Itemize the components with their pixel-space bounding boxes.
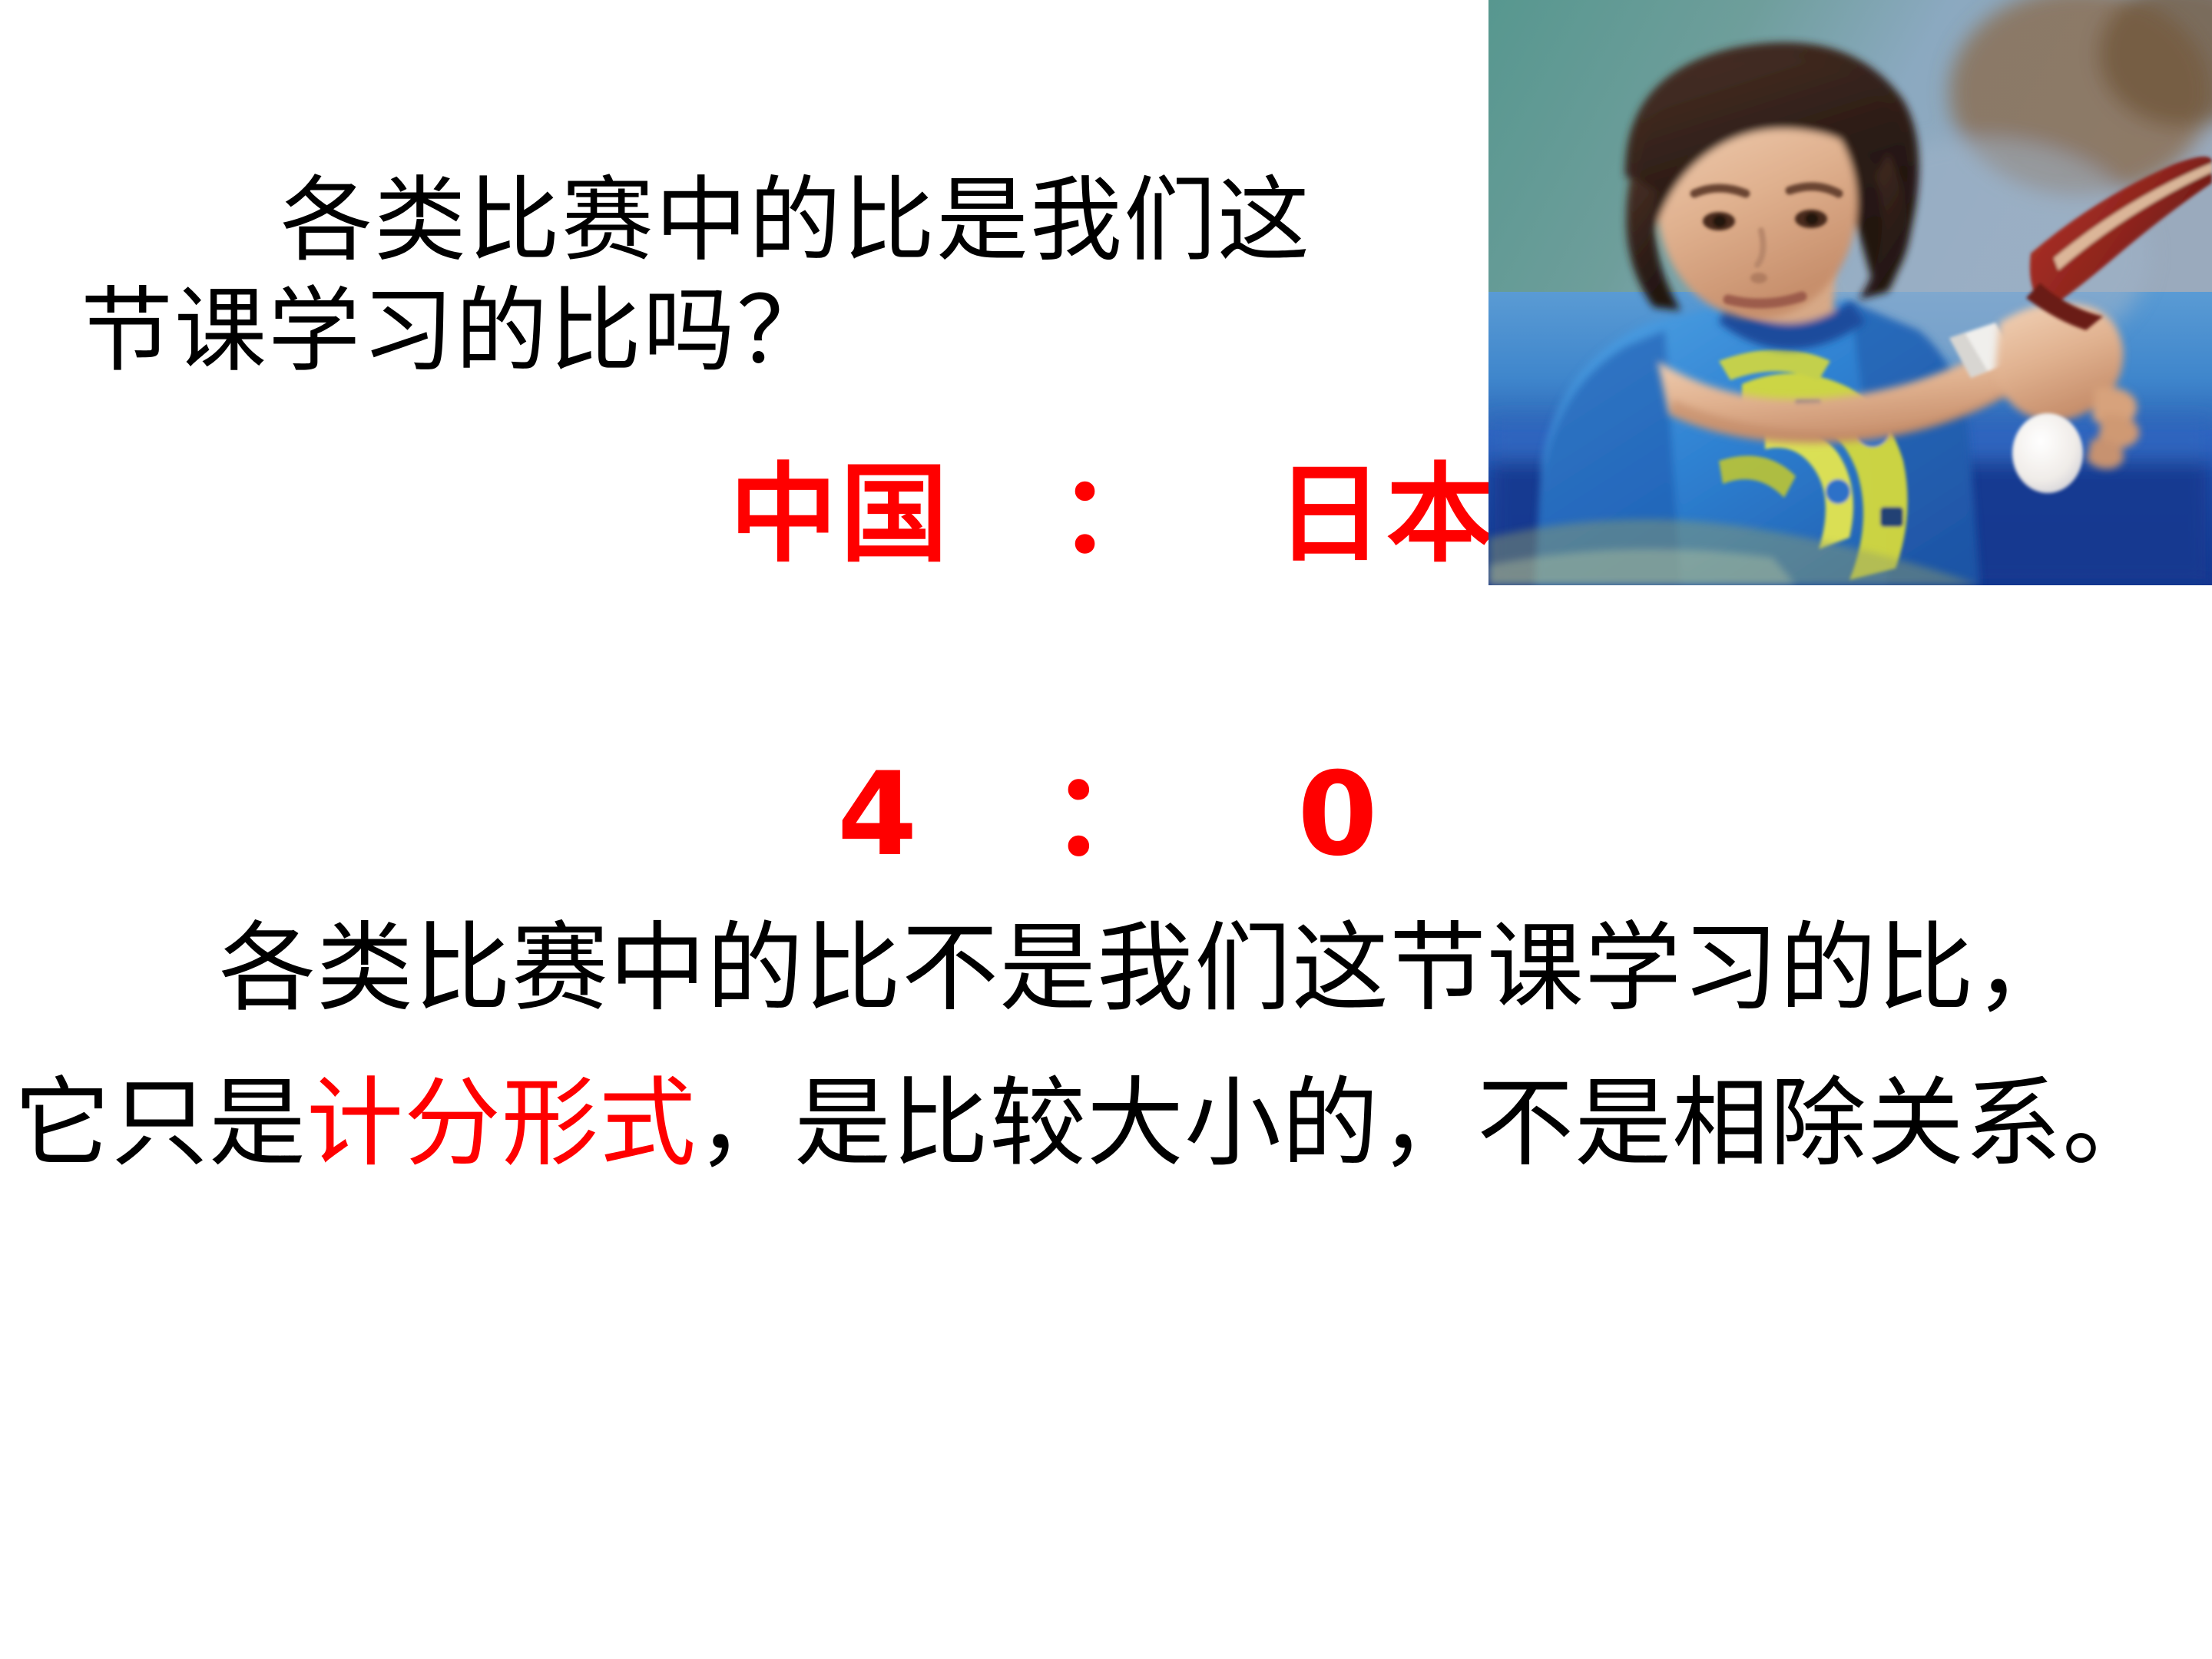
conclusion-line2-prefix: 它只是 [14,1067,306,1180]
question-text-line-2: 节课学习的比吗？ [81,286,830,378]
score-separator: ： [1050,747,1170,882]
matchup-left-team: 中国 [730,452,951,578]
conclusion-text-line-2: 它只是计分形式，是比较大小的，不是相除关系。 [14,1075,2160,1172]
conclusion-text-line-1: 各类比赛中的比不是我们这节课学习的比， [219,920,2072,1017]
score-right-value: 0 [1297,748,1382,882]
score-left-value: 4 [837,748,922,882]
table-tennis-player-photo [1488,0,2212,585]
matchup-right-team: 日本 [1276,452,1497,578]
score-row: 4 ： 0 [837,757,1382,873]
photo-artwork [1488,0,2212,585]
conclusion-line2-suffix: ，是比较大小的，不是相除关系。 [697,1067,2160,1180]
slide-canvas: 各类比赛中的比是我们这 节课学习的比吗？ 中国 ： 日本 4 ： 0 各类比赛中… [0,0,2212,1659]
conclusion-line2-highlight: 计分形式 [306,1067,697,1180]
matchup-row: 中国 ： 日本 [730,461,1497,568]
question-text-line-1: 各类比赛中的比是我们这 [280,175,1311,267]
matchup-separator: ： [1058,452,1169,578]
